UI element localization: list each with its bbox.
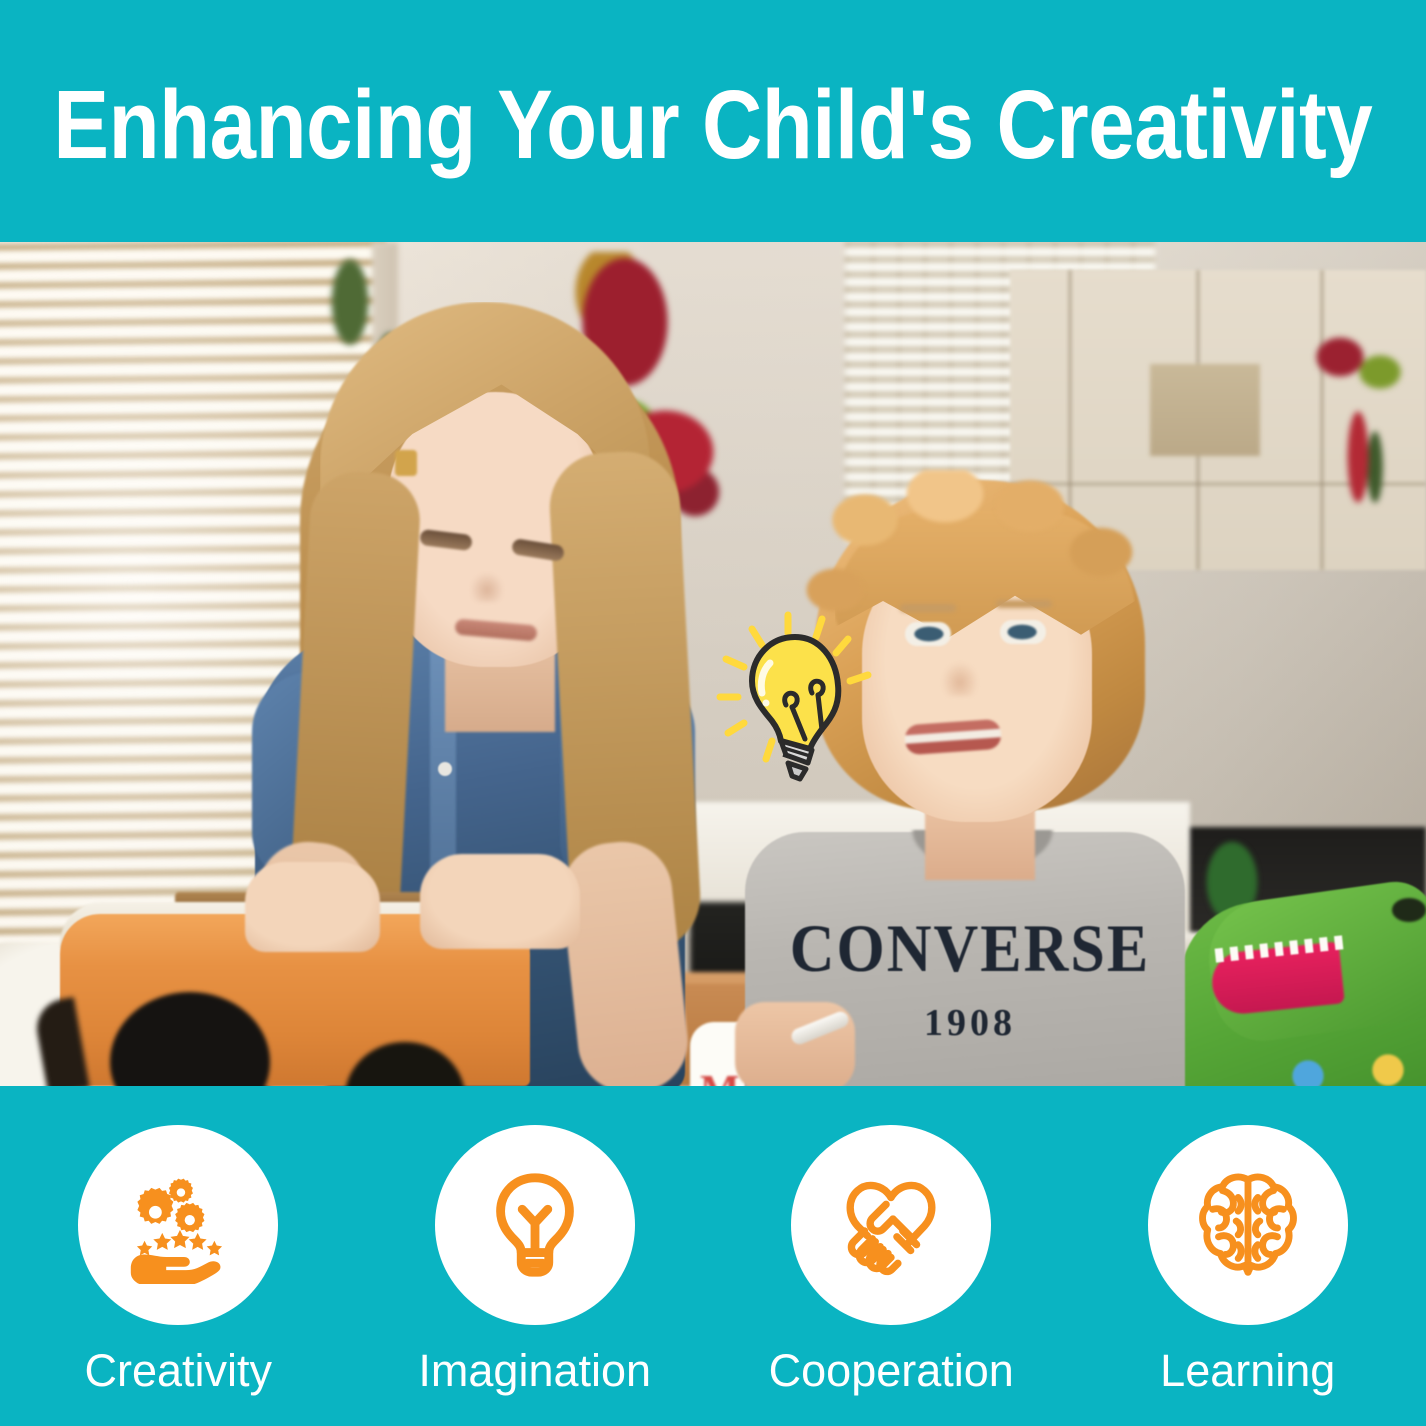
boy-eyebrow-left bbox=[900, 604, 956, 612]
brain-icon bbox=[1189, 1166, 1307, 1284]
shirt-brand-text: CONVERSE bbox=[770, 910, 1170, 988]
feature-label: Learning bbox=[1160, 1348, 1335, 1393]
boy-hair-tufts bbox=[805, 470, 1155, 680]
page-title: Enhancing Your Child's Creativity bbox=[54, 76, 1373, 173]
poster-root: Enhancing Your Child's Creativity Merry bbox=[0, 0, 1426, 1426]
feature-label: Creativity bbox=[84, 1348, 272, 1393]
feature-creativity[interactable]: Creativity bbox=[0, 1086, 357, 1426]
boy-nose bbox=[942, 662, 978, 696]
handshake-heart-icon bbox=[832, 1166, 950, 1284]
feature-icon-badge bbox=[791, 1125, 991, 1325]
feature-learning[interactable]: Learning bbox=[1070, 1086, 1426, 1426]
cabinet-open-shelf bbox=[1150, 364, 1260, 456]
boy-eye-left bbox=[905, 622, 951, 646]
boy-eyebrow-right bbox=[996, 600, 1052, 608]
hand-gears-stars-icon bbox=[119, 1166, 237, 1284]
feature-label: Cooperation bbox=[769, 1348, 1014, 1393]
girl-hand-left bbox=[245, 862, 380, 952]
feature-icon-badge bbox=[78, 1125, 278, 1325]
girl-hand-right bbox=[420, 854, 580, 949]
girl-nose bbox=[470, 572, 504, 602]
feature-imagination[interactable]: Imagination bbox=[357, 1086, 714, 1426]
dinosaur-spots bbox=[1270, 1042, 1426, 1086]
dinosaur-eye bbox=[1392, 898, 1426, 922]
girl-hair-clip bbox=[395, 450, 417, 476]
feature-label: Imagination bbox=[418, 1348, 651, 1393]
boy-eye-right bbox=[1000, 620, 1046, 644]
hero-photo: Merry bbox=[0, 242, 1426, 1086]
feature-icon-badge bbox=[435, 1125, 635, 1325]
wall-ribbon-decoration bbox=[1280, 317, 1426, 547]
features-footer: Creativity Imagination bbox=[0, 1086, 1426, 1426]
girl-dress-button bbox=[438, 762, 452, 776]
feature-row: Creativity Imagination bbox=[0, 1086, 1426, 1426]
lightbulb-icon bbox=[476, 1166, 594, 1284]
feature-icon-badge bbox=[1148, 1125, 1348, 1325]
feature-cooperation[interactable]: Cooperation bbox=[713, 1086, 1070, 1426]
header-banner: Enhancing Your Child's Creativity bbox=[0, 0, 1426, 242]
